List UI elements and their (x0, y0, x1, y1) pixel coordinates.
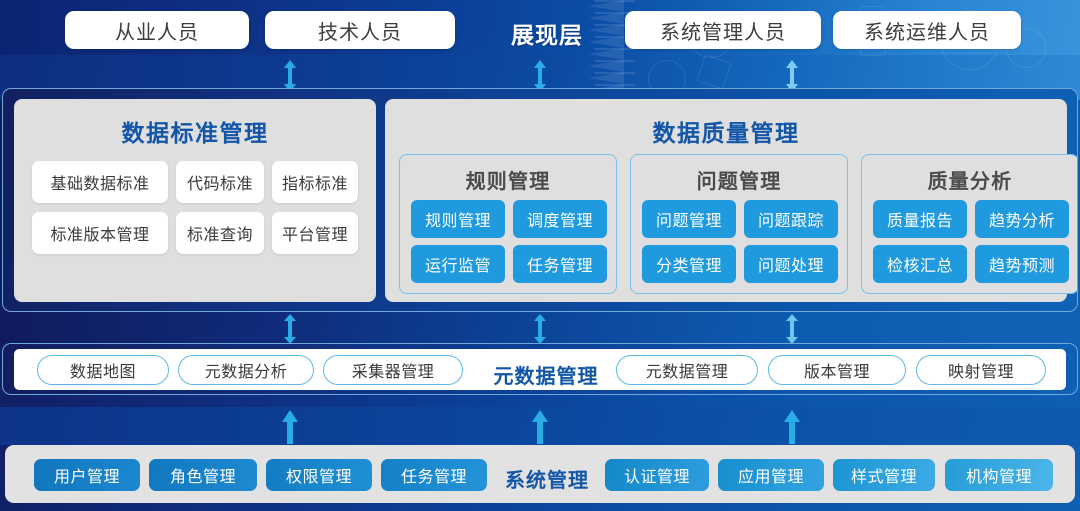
quality-subgroup-items: 问题管理 问题跟踪 分类管理 问题处理 (642, 200, 838, 283)
quality-subgroup-items: 质量报告 趋势分析 检核汇总 趋势预测 (873, 200, 1069, 283)
quality-item-issue-management[interactable]: 问题管理 (642, 200, 736, 238)
standard-item-query[interactable]: 标准查询 (176, 212, 264, 254)
quality-subgroup-title: 规则管理 (400, 165, 616, 194)
governance-layer-container: 数据标准管理 基础数据标准 代码标准 指标标准 标准版本管理 标准查询 平台管理… (2, 88, 1078, 312)
system-management-label: 系统管理 (493, 464, 601, 493)
quality-subgroup-issue-management: 问题管理 问题管理 问题跟踪 分类管理 问题处理 (630, 154, 848, 294)
standard-item-version-management[interactable]: 标准版本管理 (32, 212, 168, 254)
standard-item-indicator[interactable]: 指标标准 (272, 161, 358, 203)
role-chip-practitioner[interactable]: 从业人员 (65, 11, 249, 49)
standard-item-code[interactable]: 代码标准 (176, 161, 264, 203)
quality-item-audit-summary[interactable]: 检核汇总 (873, 245, 967, 283)
system-item-permission-management[interactable]: 权限管理 (266, 459, 372, 491)
system-item-organization-management[interactable]: 机构管理 (945, 459, 1053, 491)
standard-item-basic-data[interactable]: 基础数据标准 (32, 161, 168, 203)
double-arrow-vertical-icon (282, 314, 298, 346)
data-standard-management-panel: 数据标准管理 基础数据标准 代码标准 指标标准 标准版本管理 标准查询 平台管理 (14, 99, 376, 302)
standard-item-platform-management[interactable]: 平台管理 (272, 212, 358, 254)
quality-subgroup-title: 问题管理 (631, 165, 847, 194)
double-arrow-vertical-icon (784, 314, 800, 346)
data-standard-items-grid: 基础数据标准 代码标准 指标标准 标准版本管理 标准查询 平台管理 (32, 161, 358, 254)
quality-item-classification-management[interactable]: 分类管理 (642, 245, 736, 283)
system-item-authentication-management[interactable]: 认证管理 (605, 459, 709, 491)
double-arrow-vertical-icon (532, 314, 548, 346)
role-chip-system-operator[interactable]: 系统运维人员 (833, 11, 1021, 49)
quality-item-schedule-management[interactable]: 调度管理 (513, 200, 607, 238)
arrow-up-icon (531, 410, 549, 444)
quality-item-runtime-supervision[interactable]: 运行监管 (411, 245, 505, 283)
metadata-layer-inner-bar: 数据地图 元数据分析 采集器管理 元数据管理 元数据管理 版本管理 映射管理 (14, 349, 1066, 390)
metadata-item-metadata-management[interactable]: 元数据管理 (616, 355, 758, 385)
arrow-up-icon (281, 410, 299, 444)
data-quality-management-title: 数据质量管理 (385, 114, 1067, 148)
data-standard-management-title: 数据标准管理 (14, 114, 376, 148)
metadata-layer-label: 元数据管理 (482, 360, 610, 389)
arrow-up-icon (783, 410, 801, 444)
system-item-style-management[interactable]: 样式管理 (833, 459, 935, 491)
quality-subgroup-rule-management: 规则管理 规则管理 调度管理 运行监管 任务管理 (399, 154, 617, 294)
role-chip-system-admin[interactable]: 系统管理人员 (625, 11, 821, 49)
metadata-item-mapping-management[interactable]: 映射管理 (916, 355, 1046, 385)
quality-subgroup-title: 质量分析 (862, 165, 1078, 194)
data-quality-subgroups: 规则管理 规则管理 调度管理 运行监管 任务管理 问题管理 问题管理 问题跟踪 … (399, 154, 1078, 294)
data-quality-management-panel: 数据质量管理 规则管理 规则管理 调度管理 运行监管 任务管理 问题管理 问题管… (385, 99, 1067, 302)
quality-subgroup-quality-analysis: 质量分析 质量报告 趋势分析 检核汇总 趋势预测 (861, 154, 1078, 294)
presentation-layer-label: 展现层 (492, 16, 602, 50)
metadata-layer-container: 数据地图 元数据分析 采集器管理 元数据管理 元数据管理 版本管理 映射管理 (2, 343, 1078, 395)
metadata-item-version-management[interactable]: 版本管理 (768, 355, 906, 385)
system-item-user-management[interactable]: 用户管理 (34, 459, 140, 491)
system-item-application-management[interactable]: 应用管理 (718, 459, 824, 491)
quality-item-quality-report[interactable]: 质量报告 (873, 200, 967, 238)
quality-item-issue-handling[interactable]: 问题处理 (744, 245, 838, 283)
metadata-item-collector-management[interactable]: 采集器管理 (323, 355, 463, 385)
metadata-item-metadata-analysis[interactable]: 元数据分析 (178, 355, 314, 385)
metadata-item-data-map[interactable]: 数据地图 (37, 355, 169, 385)
quality-subgroup-items: 规则管理 调度管理 运行监管 任务管理 (411, 200, 607, 283)
quality-item-rule-management[interactable]: 规则管理 (411, 200, 505, 238)
quality-item-trend-analysis[interactable]: 趋势分析 (975, 200, 1069, 238)
quality-item-trend-forecast[interactable]: 趋势预测 (975, 245, 1069, 283)
system-item-task-management[interactable]: 任务管理 (381, 459, 487, 491)
quality-item-issue-tracking[interactable]: 问题跟踪 (744, 200, 838, 238)
presentation-layer-row: 从业人员 技术人员 展现层 系统管理人员 系统运维人员 (0, 0, 1080, 57)
system-item-role-management[interactable]: 角色管理 (149, 459, 257, 491)
role-chip-technical-staff[interactable]: 技术人员 (265, 11, 455, 49)
quality-item-task-management[interactable]: 任务管理 (513, 245, 607, 283)
system-management-row: 用户管理 角色管理 权限管理 任务管理 系统管理 认证管理 应用管理 样式管理 … (5, 445, 1075, 503)
